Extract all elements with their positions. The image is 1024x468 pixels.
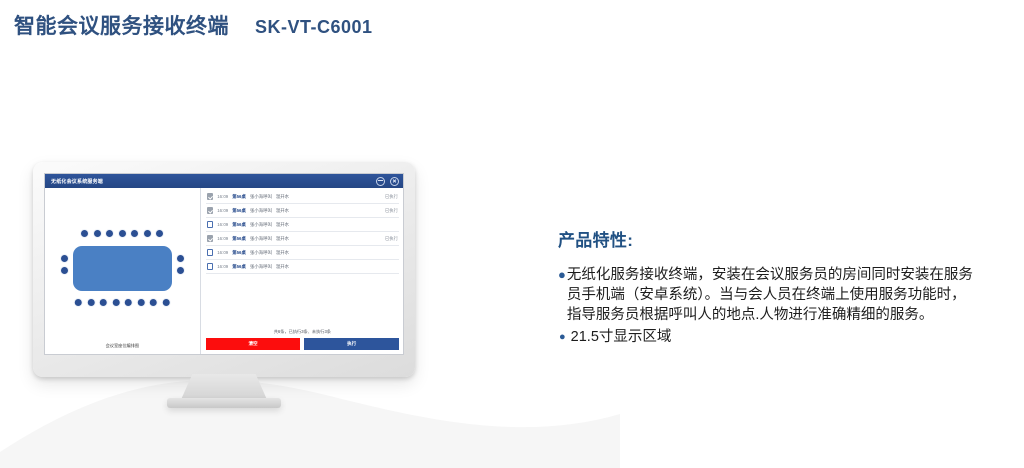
- seat-row-top: [80, 229, 164, 238]
- seat[interactable]: [155, 229, 164, 238]
- seat[interactable]: [60, 254, 69, 263]
- table-row[interactable]: 16:09 第56桌 张小海呼叫 温开水: [206, 260, 399, 274]
- monitor-bezel: 无纸化会议系统服务端: [33, 162, 415, 377]
- cell-person: 张小海呼叫: [250, 264, 272, 270]
- seat[interactable]: [130, 229, 139, 238]
- status-badge: 已执行: [385, 236, 398, 242]
- table-row[interactable]: 16:09 第56桌 张小海呼叫 温开水 已执行: [206, 232, 399, 246]
- close-icon[interactable]: [390, 177, 399, 186]
- seat-col-left: [60, 254, 69, 276]
- monitor-screen: 无纸化会议系统服务端: [44, 173, 404, 355]
- calllist-actions: 清空 执行: [206, 338, 399, 351]
- seat[interactable]: [137, 298, 146, 307]
- table-row[interactable]: 16:09 第56桌 张小海呼叫 温开水: [206, 246, 399, 260]
- product-features-panel: 产品特性: ● 无纸化服务接收终端，安装在会议服务员的房间同时安装在服务员手机端…: [558, 226, 978, 347]
- seat[interactable]: [105, 229, 114, 238]
- seat[interactable]: [99, 298, 108, 307]
- cell-table: 第56桌: [232, 264, 246, 270]
- cell-time: 16:09: [217, 194, 228, 199]
- feature-item: ● 21.5寸显示区域: [558, 327, 978, 347]
- cell-item: 温开水: [276, 208, 289, 214]
- bullet-icon: ●: [558, 327, 571, 347]
- cell-person: 张小海呼叫: [250, 222, 272, 228]
- seatmap-pane: 会议室座位编排图: [45, 188, 201, 354]
- cell-item: 温开水: [276, 250, 289, 256]
- seat[interactable]: [74, 298, 83, 307]
- row-checkbox[interactable]: [207, 235, 214, 242]
- cell-item: 温开水: [276, 194, 289, 200]
- seat-row-bottom: [74, 298, 171, 307]
- seat-layout: [60, 229, 185, 307]
- row-checkbox[interactable]: [207, 193, 214, 200]
- cell-table: 第56桌: [232, 222, 246, 228]
- seat[interactable]: [143, 229, 152, 238]
- features-heading: 产品特性:: [558, 226, 978, 251]
- cell-item: 温开水: [276, 222, 289, 228]
- seat[interactable]: [80, 229, 89, 238]
- cell-person: 张小海呼叫: [250, 194, 272, 200]
- product-model-number: SK-VT-C6001: [255, 17, 373, 38]
- seat[interactable]: [112, 298, 121, 307]
- row-checkbox[interactable]: [207, 207, 214, 214]
- cell-person: 张小海呼叫: [250, 250, 272, 256]
- cell-time: 16:09: [217, 250, 228, 255]
- calllist-rows: 16:09 第56桌 张小海呼叫 温开水 已执行 16:09 第56桌 张小海呼…: [206, 190, 399, 326]
- feature-text: 无纸化服务接收终端，安装在会议服务员的房间同时安装在服务员手机端（安卓系统）。当…: [567, 265, 978, 325]
- cell-time: 16:09: [217, 208, 228, 213]
- page-title: 智能会议服务接收终端: [14, 10, 229, 40]
- window-controls: [376, 177, 399, 186]
- seat[interactable]: [93, 229, 102, 238]
- app-body: 会议室座位编排图 16:09 第56桌 张小海呼叫 温开水 已执行: [45, 188, 403, 354]
- cell-person: 张小海呼叫: [250, 236, 272, 242]
- row-checkbox[interactable]: [207, 249, 214, 256]
- minimize-icon[interactable]: [376, 177, 385, 186]
- table-row[interactable]: 16:09 第56桌 张小海呼叫 温开水 已执行: [206, 204, 399, 218]
- cell-item: 温开水: [276, 264, 289, 270]
- calllist-summary: 共6条，已执行3条、未执行3条: [206, 326, 399, 338]
- table-row[interactable]: 16:09 第56桌 张小海呼叫 温开水 已执行: [206, 190, 399, 204]
- seatmap-caption: 会议室座位编排图: [49, 343, 196, 351]
- cell-table: 第56桌: [232, 236, 246, 242]
- page-header: 智能会议服务接收终端 SK-VT-C6001: [14, 10, 373, 40]
- seat[interactable]: [176, 266, 185, 275]
- cell-table: 第56桌: [232, 208, 246, 214]
- row-checkbox[interactable]: [207, 221, 214, 228]
- seat[interactable]: [60, 266, 69, 275]
- cell-time: 16:09: [217, 236, 228, 241]
- clear-button[interactable]: 清空: [206, 338, 301, 350]
- row-checkbox[interactable]: [207, 263, 214, 270]
- table-row[interactable]: 16:09 第56桌 张小海呼叫 温开水: [206, 218, 399, 232]
- seat[interactable]: [149, 298, 158, 307]
- cell-table: 第56桌: [232, 250, 246, 256]
- cell-item: 温开水: [276, 236, 289, 242]
- execute-button[interactable]: 执行: [304, 338, 399, 350]
- conference-table-shape: [73, 246, 172, 291]
- status-badge: 已执行: [385, 208, 398, 214]
- seat[interactable]: [87, 298, 96, 307]
- cell-time: 16:09: [217, 222, 228, 227]
- seat[interactable]: [124, 298, 133, 307]
- seat[interactable]: [162, 298, 171, 307]
- monitor-device: 无纸化会议系统服务端: [33, 162, 433, 417]
- cell-table: 第56桌: [232, 194, 246, 200]
- status-badge: 已执行: [385, 194, 398, 200]
- feature-item: ● 无纸化服务接收终端，安装在会议服务员的房间同时安装在服务员手机端（安卓系统）…: [558, 265, 978, 325]
- seatmap-canvas[interactable]: [49, 192, 196, 343]
- feature-text: 21.5寸显示区域: [571, 327, 978, 347]
- seat-col-right: [176, 254, 185, 276]
- app-window-title: 无纸化会议系统服务端: [51, 178, 103, 185]
- cell-person: 张小海呼叫: [250, 208, 272, 214]
- monitor-stand-base: [167, 398, 281, 408]
- seat[interactable]: [118, 229, 127, 238]
- app-titlebar: 无纸化会议系统服务端: [45, 174, 403, 188]
- calllist-pane: 16:09 第56桌 张小海呼叫 温开水 已执行 16:09 第56桌 张小海呼…: [201, 188, 403, 354]
- seat[interactable]: [176, 254, 185, 263]
- bullet-icon: ●: [558, 265, 567, 285]
- cell-time: 16:09: [217, 264, 228, 269]
